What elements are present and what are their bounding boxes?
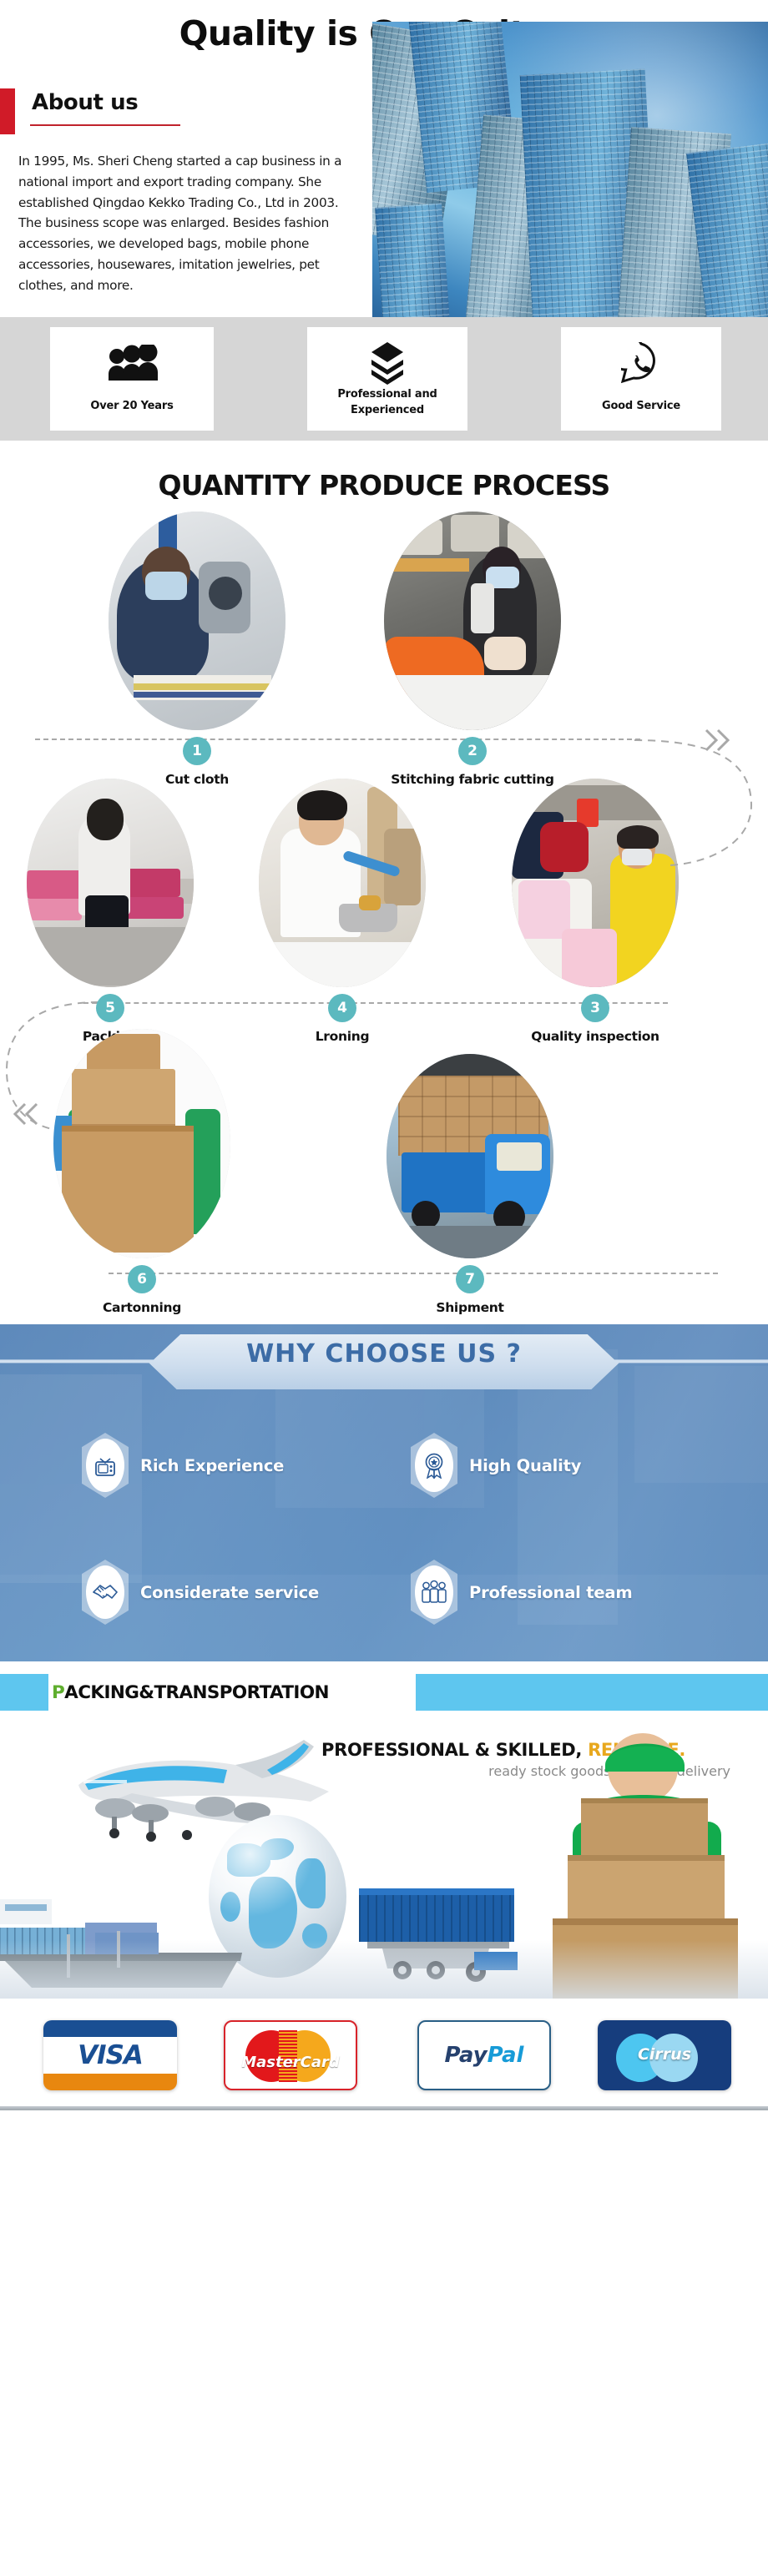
why-item-label: Considerate service (140, 1583, 319, 1602)
visa-bottom-band (43, 2074, 177, 2090)
why-choose-us-section: WHY CHOOSE US ? Rich Experience (0, 1324, 768, 1661)
step-number: 2 (458, 737, 487, 765)
process-step-7: 7 Shipment (374, 1054, 566, 1315)
cirrus-logo: Cirrus (598, 2020, 731, 2090)
process-row-3: 6 Cartonning 7 Shipment (0, 1037, 768, 1304)
process-step-4: 4 Lroning (250, 779, 434, 1044)
tv-icon (82, 1433, 129, 1498)
team-people-icon (411, 1560, 457, 1625)
payment-paypal[interactable]: PayPal (417, 2020, 551, 2090)
why-item-label: Professional team (469, 1583, 632, 1602)
people-group-icon (106, 340, 158, 386)
banner-first-letter: P (52, 1682, 64, 1703)
badge-label: Over 20 Years (90, 399, 173, 415)
process-connector-1 (35, 739, 640, 740)
packing-transportation-banner: PACKING&TRANSPORTATION (0, 1670, 768, 1715)
payment-visa[interactable]: VISA (43, 2020, 177, 2090)
payment-methods-section: VISA MasterCard PayPal Cirrus (0, 1999, 768, 2115)
why-item-label: High Quality (469, 1456, 581, 1475)
banner-title-rest: ACKING&TRANSPORTATION (64, 1682, 329, 1703)
red-accent-bar (0, 88, 15, 134)
step-label: Shipment (374, 1300, 566, 1315)
about-underline (30, 124, 180, 126)
step-photo-stitching (384, 512, 561, 730)
step-label: Cartonning (42, 1300, 242, 1315)
process-row-1: 1 Cut cloth 2 (0, 512, 768, 779)
footer-divider (0, 2106, 768, 2110)
step-photo-cut-cloth (109, 512, 285, 730)
paypal-logo: PayPal (445, 2043, 524, 2068)
skyscrapers-photo (372, 22, 768, 355)
process-title: QUANTITY PRODUCE PROCESS (0, 441, 768, 512)
about-section: Quality is Our Culture About us In 1995,… (0, 0, 768, 317)
step-number: 4 (328, 994, 356, 1022)
payment-cirrus[interactable]: Cirrus (598, 2020, 731, 2090)
step-number: 6 (128, 1265, 156, 1293)
badge-label: Professional and Experienced (307, 387, 467, 419)
process-step-1: 1 Cut cloth (97, 512, 297, 787)
about-paragraph: In 1995, Ms. Sheri Cheng started a cap b… (18, 151, 361, 295)
why-item-label: Rich Experience (140, 1456, 284, 1475)
badge-professional-experienced[interactable]: Professional and Experienced (307, 327, 467, 431)
process-section: QUANTITY PRODUCE PROCESS (0, 441, 768, 1324)
process-connector-2 (83, 1002, 668, 1004)
about-heading: About us (32, 90, 138, 115)
step-number: 5 (96, 994, 124, 1022)
why-item-considerate-service[interactable]: Considerate service (82, 1560, 319, 1625)
award-ribbon-icon (411, 1433, 457, 1498)
handshake-icon (82, 1560, 129, 1625)
why-choose-title: WHY CHOOSE US ? (0, 1339, 768, 1369)
process-arrow-right-1 (618, 705, 764, 872)
visa-logo: VISA (78, 2040, 143, 2070)
why-choose-header: WHY CHOOSE US ? (0, 1334, 768, 1389)
why-item-rich-experience[interactable]: Rich Experience (82, 1433, 284, 1498)
whatsapp-phone-icon (621, 340, 661, 386)
badge-good-service[interactable]: Good Service (561, 327, 721, 431)
feature-badges-section: Over 20 Years Professional and Experienc… (0, 317, 768, 441)
step-number: 1 (183, 737, 211, 765)
step-photo-packing (27, 779, 194, 987)
step-number: 3 (581, 994, 609, 1022)
badge-over-20-years[interactable]: Over 20 Years (50, 327, 214, 431)
process-connector-3 (109, 1273, 718, 1274)
step-photo-ironing (259, 779, 426, 987)
badge-label: Good Service (602, 399, 680, 415)
payment-mastercard[interactable]: MasterCard (224, 2020, 357, 2090)
cirrus-label: Cirrus (598, 2045, 731, 2064)
banner-title: PACKING&TRANSPORTATION (52, 1674, 416, 1711)
why-item-professional-team[interactable]: Professional team (411, 1560, 632, 1625)
banner-bar-right (414, 1674, 768, 1711)
banner-bar-left (0, 1674, 48, 1711)
process-step-2: 2 Stitching fabric cutting (364, 512, 581, 787)
catalog-page: Quality is Our Culture About us In 1995,… (0, 0, 768, 2115)
process-arrow-left-2 (0, 979, 109, 1137)
mastercard-logo: MasterCard (232, 2029, 349, 2082)
why-item-high-quality[interactable]: High Quality (411, 1433, 581, 1498)
layers-stack-icon (369, 340, 406, 386)
mastercard-label: MasterCard (232, 2054, 349, 2071)
step-number: 7 (456, 1265, 484, 1293)
step-photo-shipment (387, 1054, 553, 1258)
logistics-hero-section: PROFESSIONAL & SKILLED, RELIABLE. ready … (0, 1715, 768, 1999)
hero-floor-gradient (0, 1940, 768, 1999)
visa-top-band (43, 2020, 177, 2037)
